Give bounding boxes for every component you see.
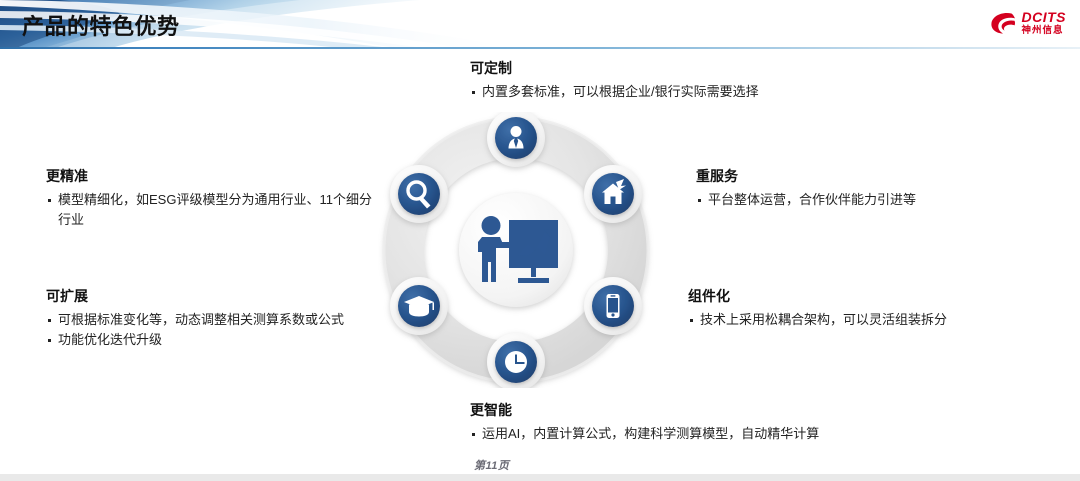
feature-title: 更智能 (470, 402, 940, 420)
header-underline-rule (0, 47, 1080, 49)
slide-header: 产品的特色优势 DCITS 神州信息 (0, 0, 1080, 49)
bullet-item: 可根据标准变化等，动态调整相关测算系数或公式 (46, 310, 376, 330)
feature-bullets: 运用AI，内置计算公式，构建科学测算模型，自动精华计算 (470, 424, 940, 444)
feature-bullets: 平台整体运营，合作伙伴能力引进等 (696, 190, 1006, 210)
slide-canvas: 产品的特色优势 DCITS 神州信息 可定制 内置多套标准，可以根据企业/银行实… (0, 0, 1080, 481)
feature-block-intelligent: 更智能 运用AI，内置计算公式，构建科学测算模型，自动精华计算 (470, 402, 940, 444)
diagram-node-education[interactable] (390, 277, 448, 335)
bullet-item: 内置多套标准，可以根据企业/银行实际需要选择 (470, 82, 900, 102)
page-title: 产品的特色优势 (22, 9, 180, 41)
feature-block-extensible: 可扩展 可根据标准变化等，动态调整相关测算系数或公式 功能优化迭代升级 (46, 288, 376, 350)
bullet-item: 模型精细化，如ESG评级模型分为通用行业、11个细分行业 (46, 190, 376, 230)
bullet-item: 技术上采用松耦合架构，可以灵活组装拆分 (688, 310, 1018, 330)
page-number-label: 第11页 (474, 457, 509, 473)
feature-title: 重服务 (696, 168, 1006, 186)
logo-english-name: DCITS (1022, 10, 1067, 24)
feature-title: 组件化 (688, 288, 1018, 306)
feature-block-accurate: 更精准 模型精细化，如ESG评级模型分为通用行业、11个细分行业 (46, 168, 376, 230)
logo-chinese-name: 神州信息 (1022, 26, 1067, 36)
central-hub-diagram (378, 112, 654, 388)
logo-text-group: DCITS 神州信息 (1022, 10, 1067, 36)
diagram-node-mobile[interactable] (584, 277, 642, 335)
diagram-node-home[interactable] (584, 165, 642, 223)
feature-bullets: 模型精细化，如ESG评级模型分为通用行业、11个细分行业 (46, 190, 376, 230)
footer-strip (0, 474, 1080, 481)
feature-block-customizable: 可定制 内置多套标准，可以根据企业/银行实际需要选择 (470, 60, 900, 102)
feature-bullets: 内置多套标准，可以根据企业/银行实际需要选择 (470, 82, 900, 102)
feature-block-service: 重服务 平台整体运营，合作伙伴能力引进等 (696, 168, 1006, 210)
dcits-swirl-icon (990, 11, 1017, 35)
diagram-center-node[interactable] (459, 193, 573, 307)
mobile-phone-icon (607, 294, 620, 318)
feature-bullets: 技术上采用松耦合架构，可以灵活组装拆分 (688, 310, 1018, 330)
bullet-item: 功能优化迭代升级 (46, 330, 376, 350)
feature-title: 可定制 (470, 60, 900, 78)
diagram-node-search[interactable] (390, 165, 448, 223)
feature-title: 更精准 (46, 168, 376, 186)
bullet-item: 平台整体运营，合作伙伴能力引进等 (696, 190, 1006, 210)
feature-block-modular: 组件化 技术上采用松耦合架构，可以灵活组装拆分 (688, 288, 1018, 330)
brand-logo: DCITS 神州信息 (990, 8, 1067, 38)
feature-title: 可扩展 (46, 288, 376, 306)
bullet-item: 运用AI，内置计算公式，构建科学测算模型，自动精华计算 (470, 424, 940, 444)
clock-icon (505, 351, 527, 373)
feature-bullets: 可根据标准变化等，动态调整相关测算系数或公式 功能优化迭代升级 (46, 310, 376, 350)
